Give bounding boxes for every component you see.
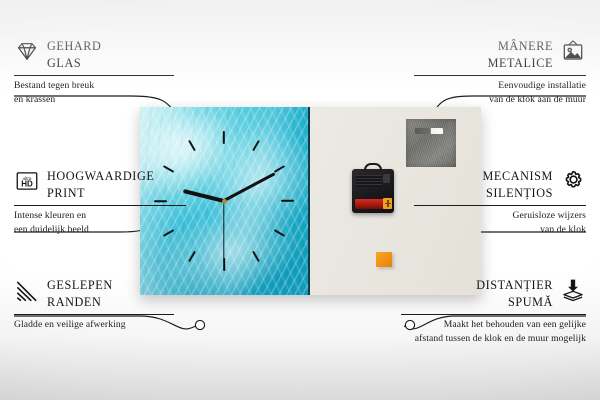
hanging-loop <box>364 163 382 172</box>
hour-tick <box>252 251 260 262</box>
feature-description: Intense kleuren en een duidelijk beeld <box>14 209 186 237</box>
feature-distantier-spuma: DISTANȚIER SPUMĂ Maakt het behouden van … <box>401 277 586 346</box>
wall-hanger-frame-icon <box>560 38 586 64</box>
hour-tick <box>274 165 285 173</box>
feature-head: GEHARD GLAS <box>14 38 174 73</box>
aa-battery <box>355 199 389 209</box>
feature-title: HOOGWAARDIGE PRINT <box>47 168 154 203</box>
gear-icon <box>560 168 586 194</box>
feature-divider <box>401 314 586 315</box>
metal-hanger-plate-icon <box>406 119 456 167</box>
quartz-mechanism-box <box>352 169 394 213</box>
spacer-stack-icon <box>560 277 586 303</box>
connector-dot-geslepen-randen <box>195 320 204 329</box>
feature-geslepen-randen: GESLEPEN RANDEN Gladde en veilige afwerk… <box>14 277 174 332</box>
feature-title: GEHARD GLAS <box>47 38 101 73</box>
time-setting-knob <box>383 174 390 183</box>
feature-head: GESLEPEN RANDEN <box>14 277 174 312</box>
feature-title: DISTANȚIER SPUMĂ <box>476 277 553 312</box>
foam-spacer <box>376 252 392 267</box>
feature-divider <box>414 205 586 206</box>
feature-gehard-glas: GEHARD GLAS Bestand tegen breuk en krass… <box>14 38 174 107</box>
diamond-icon <box>14 38 40 64</box>
feature-mecanism-silentios: MECANISM SILENȚIOS Geruisloze wijzers va… <box>414 168 586 237</box>
hour-tick <box>188 251 196 262</box>
hour-hand <box>183 189 225 203</box>
feature-divider <box>14 205 186 206</box>
feature-divider <box>14 75 174 76</box>
hour-tick <box>274 229 285 237</box>
feature-head: ultra HD HOOGWAARDIGE PRINT <box>14 168 186 203</box>
feature-divider <box>14 314 174 315</box>
feature-description: Maakt het behouden van een gelijke afsta… <box>371 318 586 346</box>
feature-title: MÂNERE METALICE <box>488 38 553 73</box>
feature-head: DISTANȚIER SPUMĂ <box>401 277 586 312</box>
feature-description: Eenvoudige installatie van de klok aan d… <box>414 79 586 107</box>
feature-title: MECANISM SILENȚIOS <box>483 168 554 203</box>
feature-description: Bestand tegen breuk en krassen <box>14 79 174 107</box>
hour-tick <box>188 140 196 151</box>
feature-description: Geruisloze wijzers van de klok <box>414 209 586 237</box>
clock-center-pin <box>222 199 227 204</box>
feature-title: GESLEPEN RANDEN <box>47 277 113 312</box>
minute-hand <box>223 172 276 202</box>
feature-head: MÂNERE METALICE <box>414 38 586 73</box>
feature-manere-metalice: MÂNERE METALICE Eenvoudige installatie v… <box>414 38 586 107</box>
svg-text:HD: HD <box>21 180 33 189</box>
battery-plus-terminal <box>383 198 392 209</box>
bevel-lines-icon <box>14 277 40 303</box>
hour-tick <box>281 200 294 202</box>
ultra-hd-icon: ultra HD <box>14 168 40 194</box>
feature-description: Gladde en veilige afwerking <box>14 318 174 332</box>
hour-tick <box>252 140 260 151</box>
feature-hoogwaardige-print: ultra HD HOOGWAARDIGE PRINT Intense kleu… <box>14 168 186 237</box>
feature-divider <box>414 75 586 76</box>
feature-head: MECANISM SILENȚIOS <box>414 168 586 203</box>
mechanism-grill <box>356 175 382 187</box>
hanger-slot <box>415 128 443 134</box>
infographic-canvas: GEHARD GLAS Bestand tegen breuk en krass… <box>0 0 600 400</box>
hour-tick <box>223 131 225 144</box>
second-hand <box>223 201 224 261</box>
